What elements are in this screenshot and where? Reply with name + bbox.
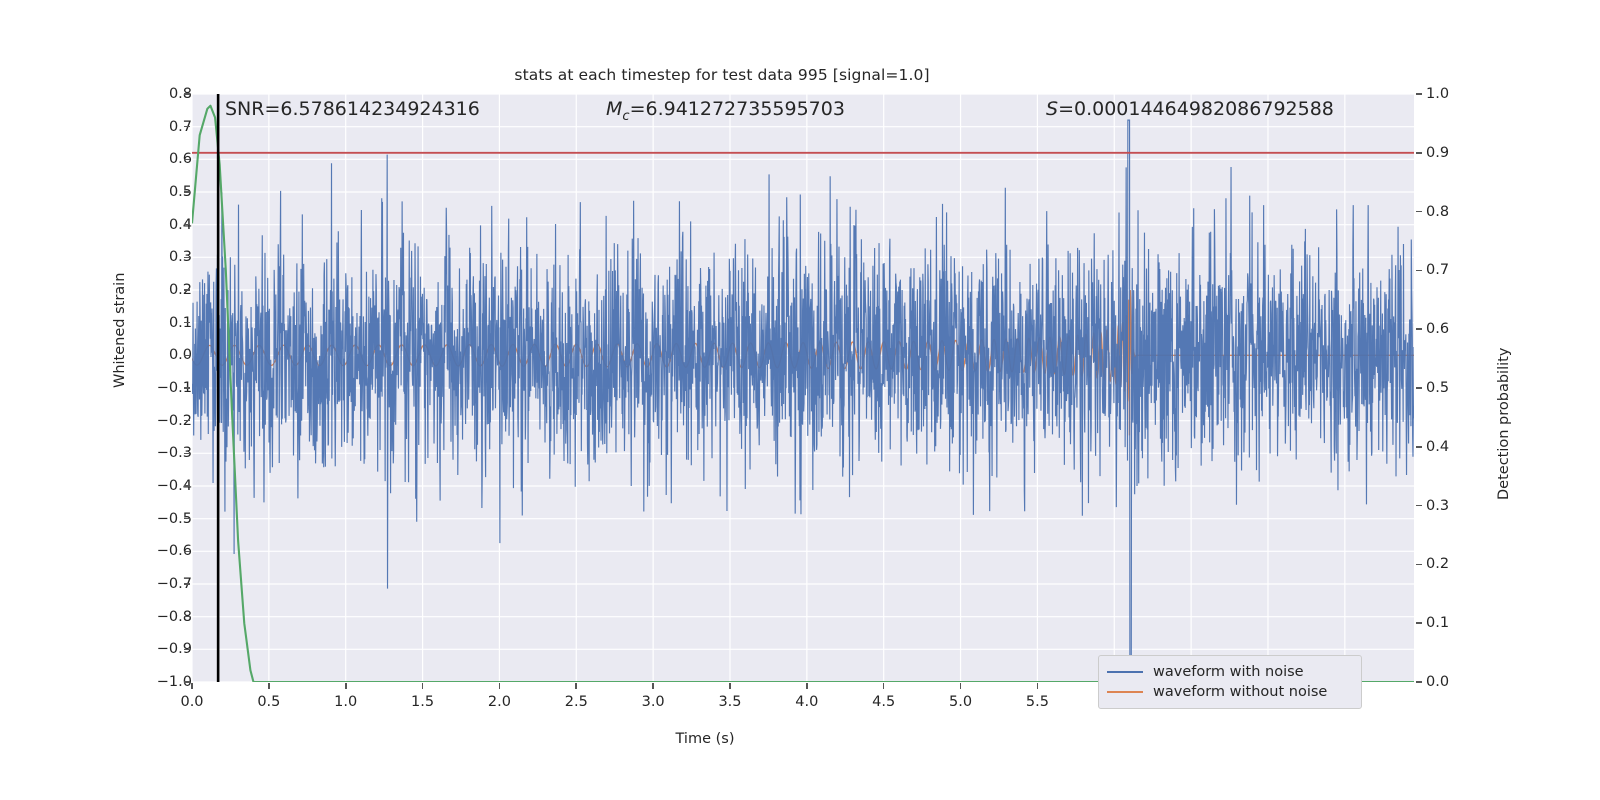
annotation-s: S=0.00014464982086792588 — [1046, 98, 1334, 120]
y-tick-mark-left — [184, 681, 190, 683]
x-tick-label: 5.5 — [1026, 694, 1049, 710]
y-tick-mark-left — [184, 551, 190, 553]
legend-item-label: waveform with noise — [1153, 664, 1304, 680]
chart-title-text: stats at each timestep for test data 995… — [514, 66, 929, 84]
y-tick-mark-left — [184, 126, 190, 128]
x-tick-label: 2.0 — [488, 694, 511, 710]
y-tick-label-right: 0.3 — [1426, 498, 1449, 514]
figure-canvas: stats at each timestep for test data 995… — [0, 0, 1600, 800]
x-tick-label: 5.0 — [949, 694, 972, 710]
y-tick-label-right: 0.9 — [1426, 145, 1449, 161]
x-tick-mark — [652, 683, 654, 689]
y-tick-label-right: 0.7 — [1426, 262, 1449, 278]
y-tick-label-right: 1.0 — [1426, 86, 1449, 102]
x-axis-label: Time (s) — [0, 731, 1600, 747]
y-tick-mark-left — [184, 159, 190, 161]
x-tick-label: 4.0 — [795, 694, 818, 710]
x-tick-label: 3.0 — [642, 694, 665, 710]
x-tick-label: 4.5 — [872, 694, 895, 710]
x-tick-mark — [345, 683, 347, 689]
x-tick-mark — [422, 683, 424, 689]
y-tick-label-right: 0.6 — [1426, 321, 1449, 337]
x-tick-mark — [806, 683, 808, 689]
y-tick-mark-left — [184, 616, 190, 618]
y-tick-mark-left — [184, 289, 190, 291]
y-tick-mark-left — [184, 257, 190, 259]
y-tick-mark-right — [1416, 93, 1422, 95]
y-axis-left-label: Whitened strain — [112, 273, 128, 388]
x-tick-label: 1.5 — [411, 694, 434, 710]
annotation-mc-value: 6.941272735595703 — [645, 98, 844, 120]
x-tick-label: 3.5 — [718, 694, 741, 710]
y-tick-mark-left — [184, 518, 190, 520]
y-tick-label-right: 0.5 — [1426, 380, 1449, 396]
y-tick-mark-left — [184, 649, 190, 651]
annotation-snr-value: 6.578614234924316 — [280, 98, 479, 120]
x-tick-mark — [575, 683, 577, 689]
y-tick-mark-left — [184, 583, 190, 585]
annotation-snr-label: SNR= — [225, 98, 280, 120]
annotation-mc: Mc=6.941272735595703 — [606, 98, 845, 124]
y-tick-mark-right — [1416, 681, 1422, 683]
x-tick-label: 0.0 — [180, 694, 203, 710]
y-tick-mark-left — [184, 420, 190, 422]
y-tick-mark-right — [1416, 446, 1422, 448]
annotation-snr: SNR=6.578614234924316 — [225, 98, 480, 120]
y-tick-mark-left — [184, 191, 190, 193]
y-tick-mark-left — [184, 485, 190, 487]
x-tick-mark — [960, 683, 962, 689]
plot-area — [192, 94, 1414, 682]
y-tick-label-right: 0.4 — [1426, 439, 1449, 455]
y-tick-mark-right — [1416, 211, 1422, 213]
y-tick-mark-right — [1416, 328, 1422, 330]
x-tick-label: 2.5 — [565, 694, 588, 710]
y-tick-label-right: 0.1 — [1426, 615, 1449, 631]
x-tick-mark — [1037, 683, 1039, 689]
annotation-mc-symbol: M — [606, 98, 622, 120]
y-tick-mark-right — [1416, 270, 1422, 272]
x-tick-mark — [268, 683, 270, 689]
y-tick-mark-left — [184, 93, 190, 95]
y-axis-right-label: Detection probability — [1496, 348, 1512, 500]
x-tick-label: 0.5 — [257, 694, 280, 710]
annotation-s-symbol: S — [1046, 98, 1058, 120]
y-tick-mark-left — [184, 224, 190, 226]
annotation-mc-equals: = — [630, 98, 646, 120]
plot-svg — [192, 94, 1414, 682]
annotation-mc-subscript: c — [622, 109, 629, 124]
y-tick-mark-left — [184, 355, 190, 357]
y-tick-mark-right — [1416, 387, 1422, 389]
y-tick-mark-right — [1416, 505, 1422, 507]
y-tick-mark-right — [1416, 564, 1422, 566]
series-waveform-with-noise — [192, 120, 1414, 682]
x-axis-label-text: Time (s) — [676, 731, 735, 747]
y-tick-mark-right — [1416, 622, 1422, 624]
x-tick-mark — [499, 683, 501, 689]
y-tick-label-right: 0.0 — [1426, 674, 1449, 690]
y-tick-mark-left — [184, 453, 190, 455]
page-title: stats at each timestep for test data 995… — [0, 66, 1600, 84]
annotation-s-value: 0.00014464982086792588 — [1074, 98, 1334, 120]
x-tick-label: 1.0 — [334, 694, 357, 710]
x-tick-mark — [729, 683, 731, 689]
y-tick-mark-right — [1416, 152, 1422, 154]
legend-item: waveform without noise — [1107, 682, 1353, 702]
x-tick-mark — [883, 683, 885, 689]
legend-color-swatch — [1107, 691, 1143, 694]
y-tick-label-right: 0.8 — [1426, 204, 1449, 220]
y-tick-mark-left — [184, 322, 190, 324]
y-tick-label-right: 0.2 — [1426, 556, 1449, 572]
legend: waveform with noise waveform without noi… — [1098, 655, 1362, 709]
legend-item: waveform with noise — [1107, 662, 1353, 682]
x-tick-mark — [191, 683, 193, 689]
annotation-s-equals: = — [1058, 98, 1074, 120]
y-tick-mark-left — [184, 387, 190, 389]
legend-color-swatch — [1107, 671, 1143, 674]
legend-item-label: waveform without noise — [1153, 684, 1327, 700]
